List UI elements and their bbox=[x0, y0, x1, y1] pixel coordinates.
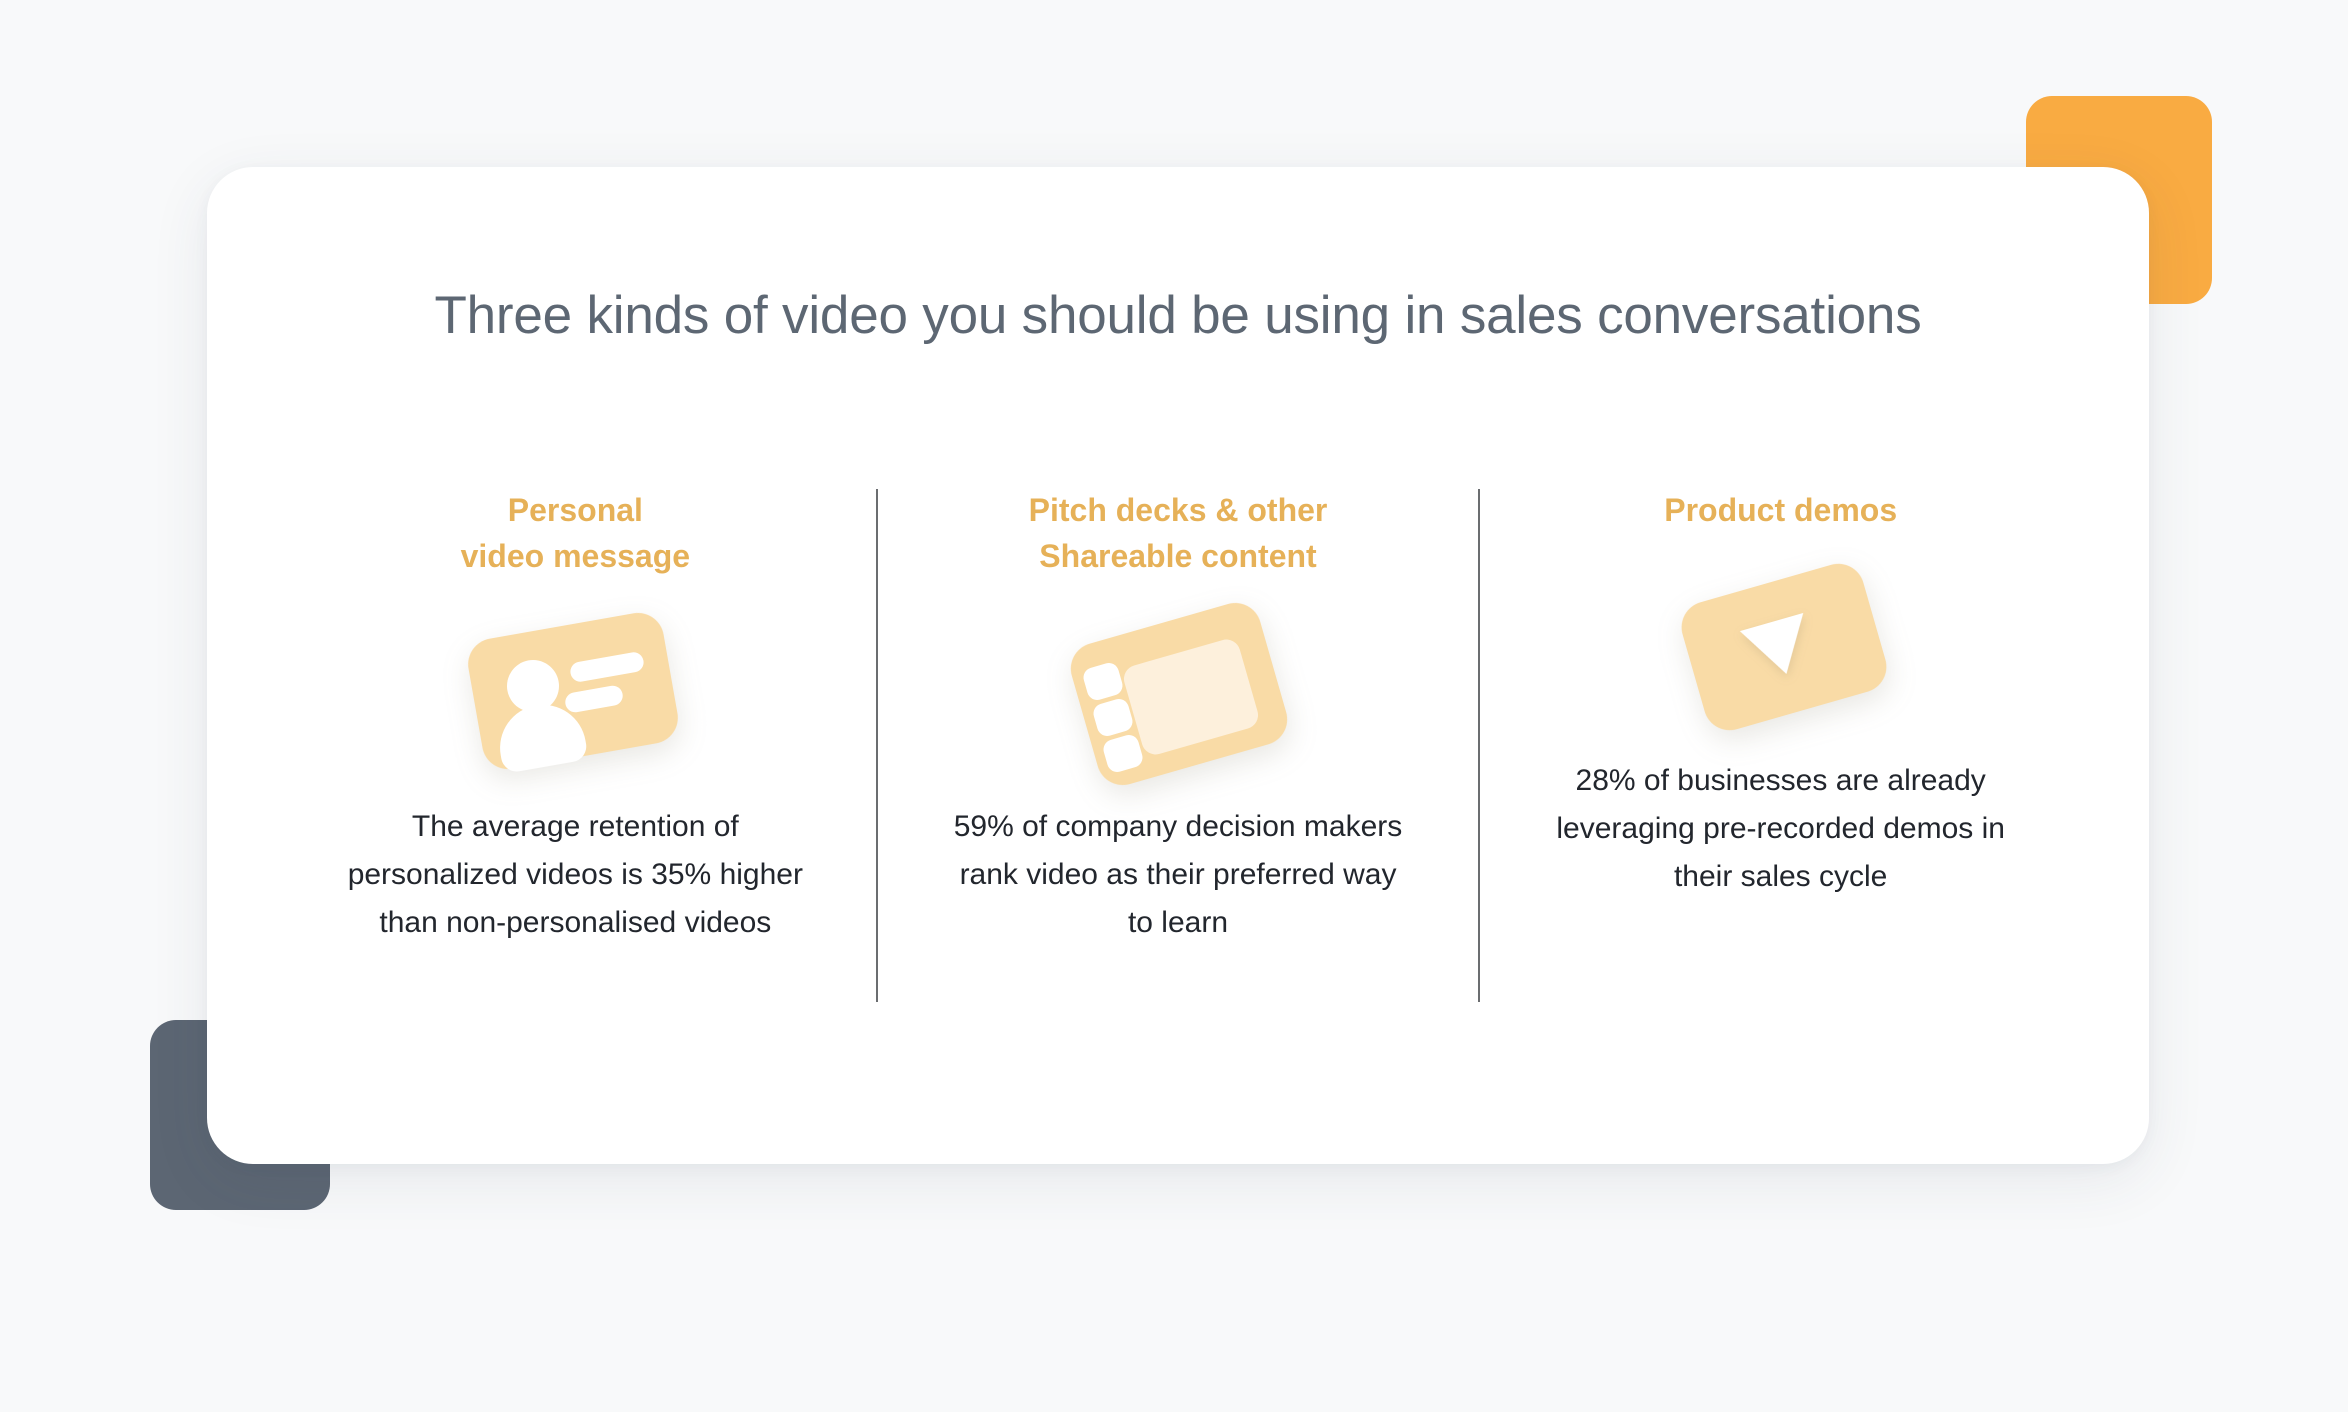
contact-card-icon bbox=[460, 613, 690, 783]
column-group: Personal video message The average reten… bbox=[275, 487, 2081, 1002]
icon-container bbox=[1480, 547, 2081, 757]
column-heading: Product demos bbox=[1664, 487, 1897, 533]
content-card: Three kinds of video you should be using… bbox=[207, 167, 2149, 1164]
column-product-demos: Product demos 28% of businesses are alre… bbox=[1480, 487, 2081, 901]
icon-container bbox=[275, 593, 876, 803]
column-pitch-decks: Pitch decks & other Shareable content 59… bbox=[878, 487, 1479, 947]
column-body-text: 28% of businesses are already leveraging… bbox=[1531, 757, 2031, 901]
column-heading: Personal video message bbox=[461, 487, 690, 579]
page-title: Three kinds of video you should be using… bbox=[207, 285, 2149, 346]
icon-container bbox=[878, 593, 1479, 803]
column-body-text: The average retention of personalized vi… bbox=[325, 803, 825, 947]
slide-canvas: Three kinds of video you should be using… bbox=[0, 0, 2348, 1412]
column-body-text: 59% of company decision makers rank vide… bbox=[943, 803, 1413, 947]
column-personal-video-message: Personal video message The average reten… bbox=[275, 487, 876, 947]
play-button-icon bbox=[1666, 567, 1896, 737]
column-heading: Pitch decks & other Shareable content bbox=[1029, 487, 1328, 579]
slide-deck-icon bbox=[1063, 613, 1293, 783]
